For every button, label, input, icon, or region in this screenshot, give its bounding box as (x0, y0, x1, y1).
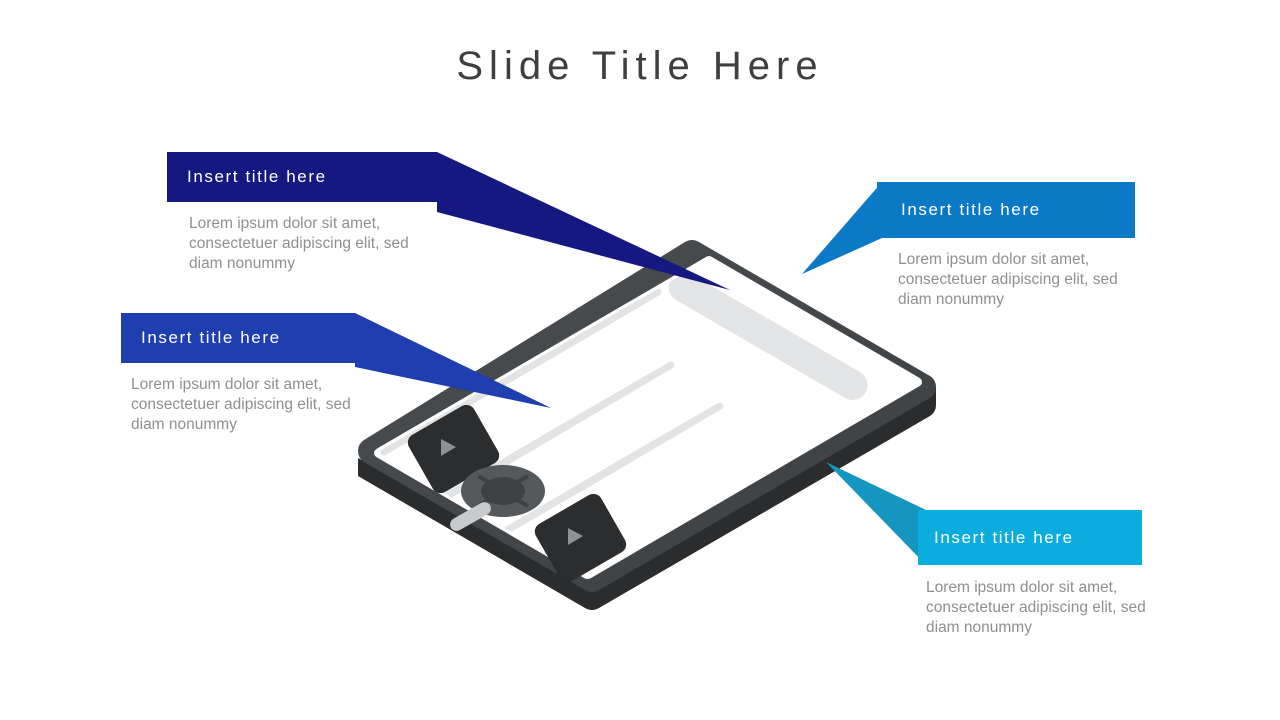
callout-title: Insert title here (934, 528, 1074, 548)
callout-tail-1 (437, 152, 737, 302)
slide-canvas: Slide Title Here (0, 0, 1280, 720)
callout-bottom-right[interactable]: Insert title here Lorem ipsum dolor sit … (918, 510, 1208, 660)
callout-title-bar[interactable]: Insert title here (167, 152, 437, 202)
callout-title-bar[interactable]: Insert title here (121, 313, 355, 363)
callout-top-left[interactable]: Insert title here Lorem ipsum dolor sit … (167, 152, 567, 302)
callout-title-bar[interactable]: Insert title here (918, 510, 1142, 565)
callout-title: Insert title here (901, 200, 1041, 220)
callout-title: Insert title here (187, 167, 327, 187)
callout-tail-3 (802, 182, 882, 277)
callout-tail-2 (355, 313, 555, 413)
callout-top-right[interactable]: Insert title here Lorem ipsum dolor sit … (877, 182, 1167, 332)
callout-tail-4 (826, 462, 926, 567)
callout-body-text: Lorem ipsum dolor sit amet, consectetuer… (926, 578, 1146, 638)
callout-title-bar[interactable]: Insert title here (877, 182, 1135, 238)
callout-middle-left[interactable]: Insert title here Lorem ipsum dolor sit … (121, 313, 441, 463)
callout-title: Insert title here (141, 328, 281, 348)
page-title: Slide Title Here (0, 44, 1280, 89)
callout-body-text: Lorem ipsum dolor sit amet, consectetuer… (898, 250, 1118, 310)
callout-body-text: Lorem ipsum dolor sit amet, consectetuer… (189, 214, 409, 274)
callout-body-text: Lorem ipsum dolor sit amet, consectetuer… (131, 375, 351, 435)
